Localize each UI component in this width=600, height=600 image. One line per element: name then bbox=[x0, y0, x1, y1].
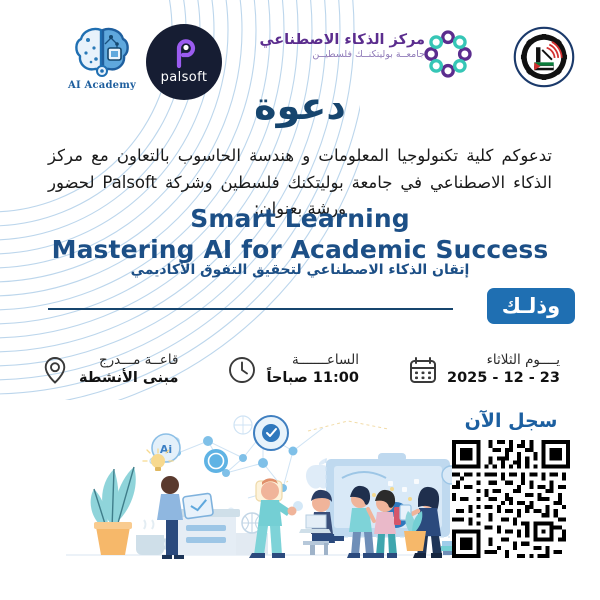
detail-time-label: الساعـــــــة bbox=[266, 352, 358, 369]
clock-icon bbox=[227, 355, 257, 385]
detail-date-value: 23 - 12 - 2025 bbox=[447, 369, 560, 388]
palsoft-mark-icon bbox=[171, 39, 197, 69]
ai-center-line1: مركز الذكاء الاصطناعي bbox=[260, 32, 425, 48]
calendar-icon bbox=[408, 355, 438, 385]
event-invitation-poster: AI Academy palsoft مركز الذكاء الاصطناعي… bbox=[0, 0, 600, 600]
workshop-title-line1: Smart Learning bbox=[0, 204, 600, 233]
page-title: دعوة bbox=[0, 84, 600, 128]
ppu-flower-icon bbox=[424, 30, 472, 78]
qr-code[interactable] bbox=[452, 440, 570, 558]
ai-center-line2: جامعــة بوليتكنــك فلسطيــن bbox=[260, 49, 425, 60]
detail-time-value: 11:00 صباحاً bbox=[266, 369, 358, 388]
status-badge: وذلـك bbox=[487, 288, 575, 324]
detail-location-value: مبنى الأنشطة bbox=[79, 369, 178, 388]
palsoft-wordmark: palsoft bbox=[161, 70, 208, 85]
workshop-subtitle-arabic: إتقان الذكاء الاصطناعي لتحقيق التفوق الأ… bbox=[0, 262, 600, 278]
university-seal-icon bbox=[513, 26, 575, 88]
detail-location: قاعــة مـــدرج مبنى الأنشطة bbox=[40, 352, 178, 388]
poster-header: AI Academy palsoft مركز الذكاء الاصطناعي… bbox=[0, 0, 600, 96]
detail-location-label: قاعــة مـــدرج bbox=[79, 352, 178, 369]
register-label: سجل الآن bbox=[446, 410, 576, 432]
detail-date-label: يــــوم الثلاثاء bbox=[447, 352, 560, 369]
event-details-row: يــــوم الثلاثاء 23 - 12 - 2025 الساعـــ… bbox=[40, 345, 560, 395]
person-standing-a bbox=[347, 486, 374, 558]
detail-time: الساعـــــــة 11:00 صباحاً bbox=[227, 352, 358, 388]
detail-date: يــــوم الثلاثاء 23 - 12 - 2025 bbox=[408, 352, 560, 388]
svg-text:Ai: Ai bbox=[160, 443, 172, 456]
workshop-title-line2: Mastering AI for Academic Success bbox=[0, 235, 600, 264]
person-presenter bbox=[157, 476, 240, 559]
brain-icon bbox=[71, 24, 133, 80]
event-illustration: Ai bbox=[58, 403, 458, 588]
coffee-mug bbox=[136, 520, 166, 555]
potted-plant-left bbox=[91, 467, 136, 555]
section-divider bbox=[48, 308, 453, 310]
ai-center-wordmark: مركز الذكاء الاصطناعي جامعــة بوليتكنــك… bbox=[260, 32, 425, 60]
location-pin-icon bbox=[40, 355, 70, 385]
